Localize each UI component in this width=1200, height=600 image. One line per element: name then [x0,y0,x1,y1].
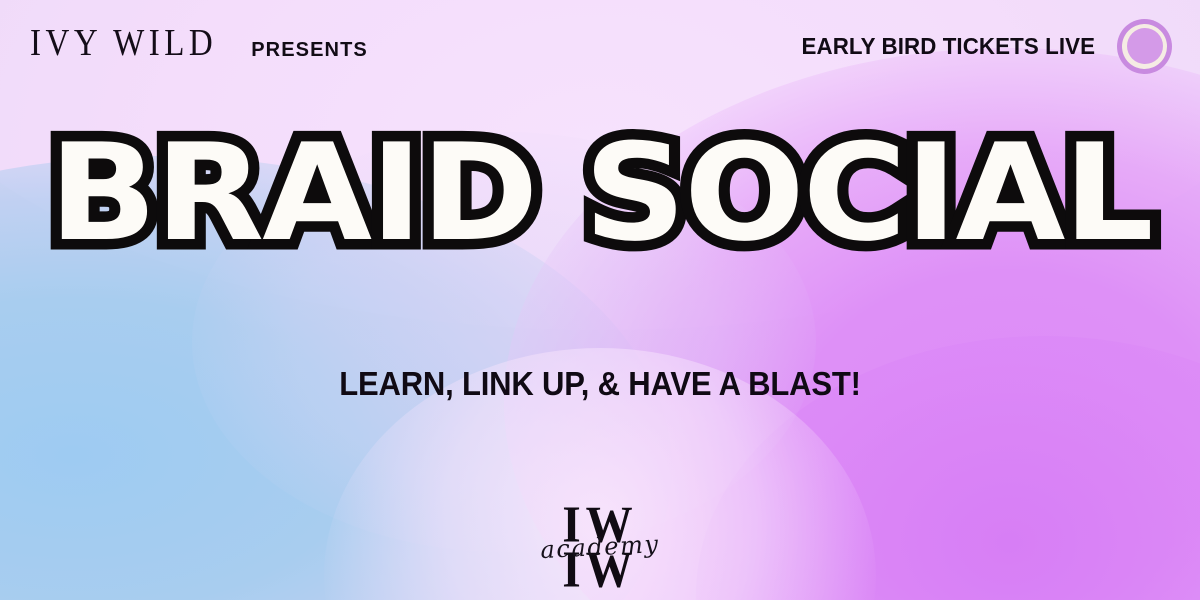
poster-header: IVY WILD PRESENTS EARLY BIRD TICKETS LIV… [0,0,1200,92]
header-right-group: EARLY BIRD TICKETS LIVE [797,19,1172,74]
presents-label: PRESENTS [251,39,368,62]
header-left-group: IVY WILD PRESENTS [30,30,368,63]
circle-badge-ring [1122,24,1167,69]
event-tagline: LEARN, LINK UP, & HAVE A BLAST! [36,365,1164,403]
circle-badge-core [1127,28,1163,64]
early-bird-tickets-label: EARLY BIRD TICKETS LIVE [802,33,1096,60]
academy-logo: IW IW academy [530,503,670,595]
event-poster: IVY WILD PRESENTS EARLY BIRD TICKETS LIV… [0,0,1200,600]
circle-badge-icon [1117,19,1172,74]
brand-wordmark: IVY WILD [30,24,217,62]
